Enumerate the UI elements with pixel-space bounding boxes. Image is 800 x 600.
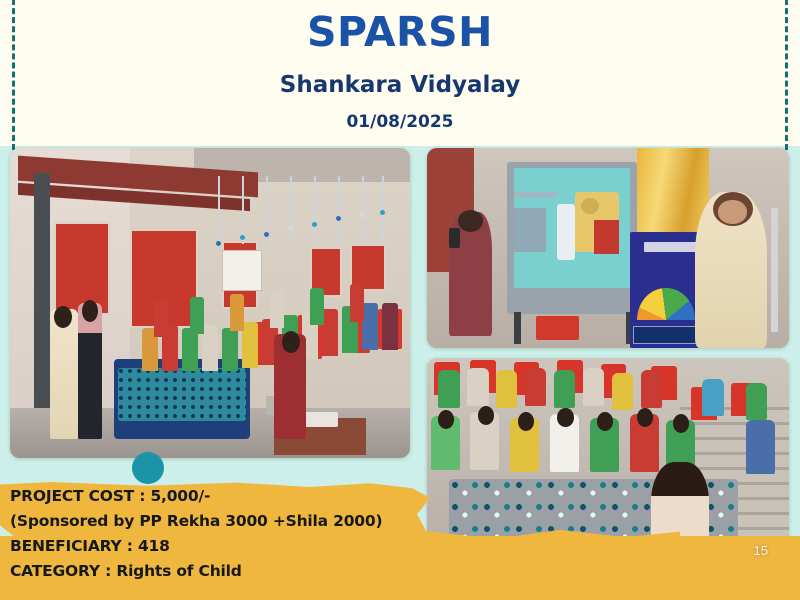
event-date: 01/08/2025 — [0, 112, 800, 132]
sponsor-line: (Sponsored by PP Rekha 3000 +Shila 2000) — [10, 509, 430, 534]
slide-page-number: 15 — [754, 543, 768, 558]
category-line: CATEGORY : Rights of Child — [10, 559, 430, 584]
beneficiary-line: BENEFICIARY : 418 — [10, 534, 430, 559]
photo-presentation-projector-screen — [427, 148, 789, 348]
photo-school-hall-assembly — [10, 148, 410, 458]
presentation-slide: SPARSH Shankara Vidyalay 01/08/2025 — [0, 0, 800, 600]
project-cost-line: PROJECT COST : 5,000/- — [10, 484, 430, 509]
school-name: Shankara Vidyalay — [0, 72, 800, 98]
photo-students-audience-seated — [427, 358, 789, 566]
teal-dot-decoration — [132, 452, 164, 484]
page-title: SPARSH — [0, 8, 800, 56]
project-details: PROJECT COST : 5,000/- (Sponsored by PP … — [10, 484, 430, 584]
